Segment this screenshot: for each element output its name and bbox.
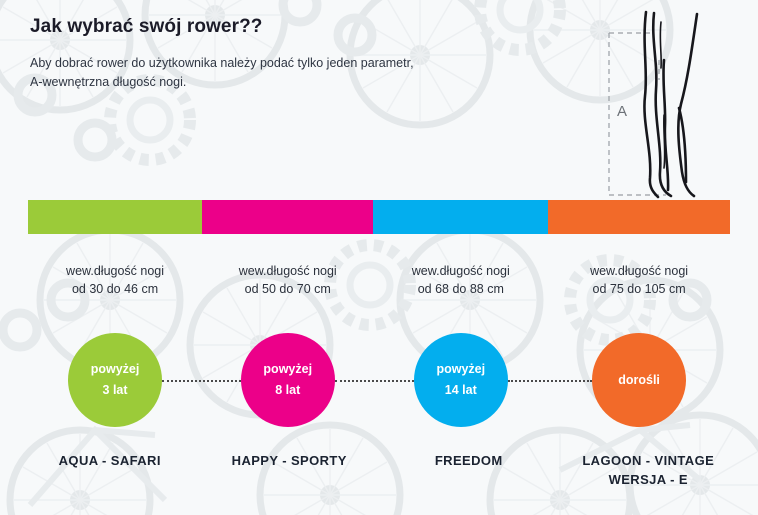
product-label-3: FREEDOM bbox=[379, 452, 559, 490]
age-circles-row: powyżej 3 lat powyżej 8 lat powyżej 14 l… bbox=[28, 333, 730, 428]
caption-1: wew.długość nogi od 30 do 46 cm bbox=[28, 262, 202, 308]
color-segment-4 bbox=[548, 200, 730, 234]
age-circle-1-line-2: 3 lat bbox=[103, 380, 128, 401]
leg-measurement-figure: A bbox=[576, 0, 746, 200]
age-circle-1[interactable]: powyżej 3 lat bbox=[68, 333, 162, 427]
caption-2-line-1: wew.długość nogi bbox=[202, 262, 373, 280]
product-2-line-1: HAPPY - SPORTY bbox=[200, 452, 380, 471]
color-segment-3 bbox=[373, 200, 548, 234]
caption-1-line-2: od 30 do 46 cm bbox=[28, 280, 202, 298]
header-block: Jak wybrać swój rower?? Aby dobrać rower… bbox=[30, 16, 414, 93]
age-circle-2[interactable]: powyżej 8 lat bbox=[241, 333, 335, 427]
page-title: Jak wybrać swój rower?? bbox=[30, 16, 414, 38]
infographic-root: Jak wybrać swój rower?? Aby dobrać rower… bbox=[0, 0, 758, 515]
connector-dotline-1 bbox=[162, 380, 241, 382]
connector-dotline-3 bbox=[508, 380, 592, 382]
age-circle-3-line-1: powyżej bbox=[436, 359, 485, 380]
page-subtitle: Aby dobrać rower do użytkownika należy p… bbox=[30, 54, 414, 93]
age-circle-4[interactable]: dorośli bbox=[592, 333, 686, 427]
age-circle-2-line-2: 8 lat bbox=[275, 380, 300, 401]
color-segment-1 bbox=[28, 200, 202, 234]
caption-4-line-2: od 75 do 105 cm bbox=[548, 280, 730, 298]
caption-2-line-2: od 50 do 70 cm bbox=[202, 280, 373, 298]
age-circle-2-line-1: powyżej bbox=[263, 359, 312, 380]
caption-1-line-1: wew.długość nogi bbox=[28, 262, 202, 280]
product-4-line-1: LAGOON - VINTAGE bbox=[559, 452, 739, 471]
connector-dotline-2 bbox=[335, 380, 414, 382]
product-3-line-1: FREEDOM bbox=[379, 452, 559, 471]
leg-length-captions: wew.długość nogi od 30 do 46 cm wew.dług… bbox=[28, 262, 730, 308]
caption-4-line-1: wew.długość nogi bbox=[548, 262, 730, 280]
age-circle-4-line-1: dorośli bbox=[618, 370, 660, 391]
product-1-line-1: AQUA - SAFARI bbox=[20, 452, 200, 471]
age-circle-3-line-2: 14 lat bbox=[445, 380, 477, 401]
product-label-1: AQUA - SAFARI bbox=[20, 452, 200, 490]
age-circle-1-line-1: powyżej bbox=[91, 359, 140, 380]
product-label-2: HAPPY - SPORTY bbox=[200, 452, 380, 490]
subtitle-line-2: A-wewnętrzna długość nogi. bbox=[30, 75, 186, 89]
caption-3: wew.długość nogi od 68 do 88 cm bbox=[373, 262, 548, 308]
product-label-4: LAGOON - VINTAGE WERSJA - E bbox=[559, 452, 739, 490]
age-circle-3[interactable]: powyżej 14 lat bbox=[414, 333, 508, 427]
caption-3-line-1: wew.długość nogi bbox=[373, 262, 548, 280]
product-4-line-2: WERSJA - E bbox=[559, 471, 739, 490]
measure-label-a: A bbox=[617, 103, 627, 120]
product-labels-row: AQUA - SAFARI HAPPY - SPORTY FREEDOM LAG… bbox=[20, 452, 738, 490]
caption-2: wew.długość nogi od 50 do 70 cm bbox=[202, 262, 373, 308]
caption-4: wew.długość nogi od 75 do 105 cm bbox=[548, 262, 730, 308]
caption-3-line-2: od 68 do 88 cm bbox=[373, 280, 548, 298]
leg-illustration-icon bbox=[576, 0, 746, 200]
subtitle-line-1: Aby dobrać rower do użytkownika należy p… bbox=[30, 56, 414, 70]
size-color-bar bbox=[28, 200, 730, 234]
color-segment-2 bbox=[202, 200, 373, 234]
